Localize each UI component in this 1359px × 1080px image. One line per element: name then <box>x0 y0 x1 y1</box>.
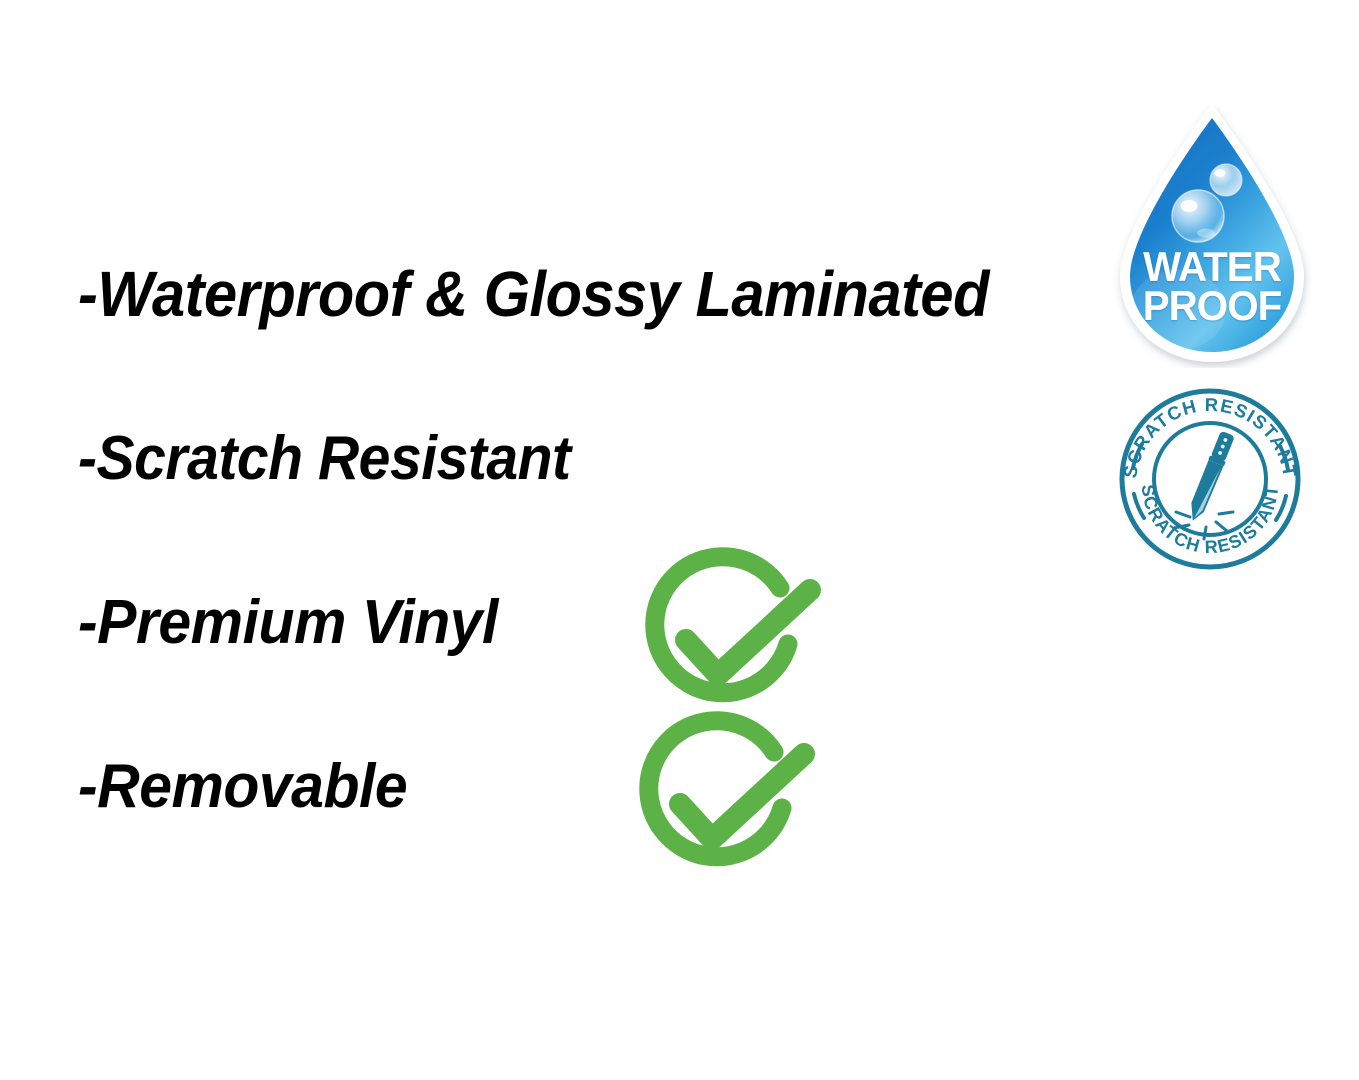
check-mark <box>680 754 804 839</box>
feature-item-waterproof-glossy-laminated: -Waterproof & Glossy Laminated <box>78 262 989 326</box>
feature-list-graphic: -Waterproof & Glossy Laminated -Scratch … <box>0 0 1359 1080</box>
feature-item-premium-vinyl: -Premium Vinyl <box>78 592 498 654</box>
scratch-resistant-badge: SCRATCH RESISTANT SCRATCH RESISTANT <box>1114 386 1306 572</box>
knife-icon <box>1185 430 1236 524</box>
check-mark <box>686 590 810 675</box>
check-circle-removable <box>632 712 818 898</box>
feature-item-removable: -Removable <box>78 756 407 818</box>
waterproof-badge: WATER PROOF <box>1106 100 1318 368</box>
feature-item-scratch-resistant: -Scratch Resistant <box>78 428 571 490</box>
check-circle-premium-vinyl <box>638 548 824 734</box>
